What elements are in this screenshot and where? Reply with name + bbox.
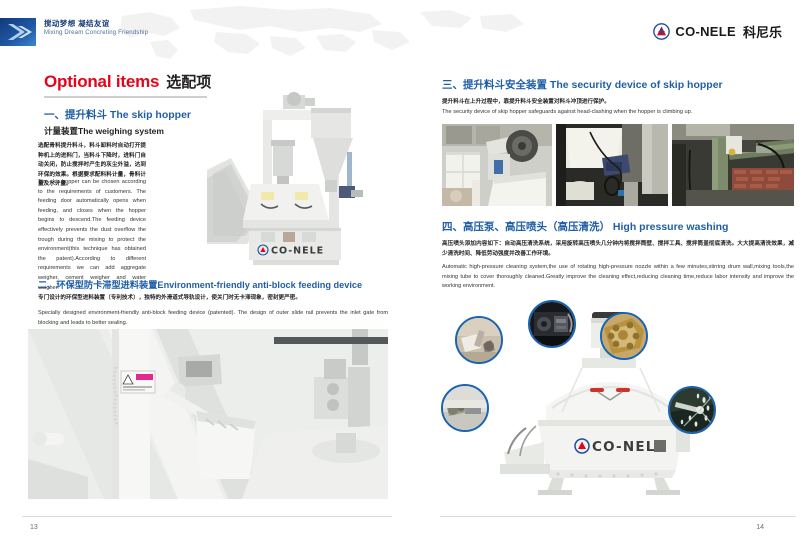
brochure-page-spread: 搅动梦想 凝结友谊 Mixing Dream Concreting Friend… bbox=[0, 0, 800, 543]
section-4-body-english: Automatic high-pressure cleaning system,… bbox=[442, 263, 794, 292]
skip-hopper-planetary-mixer-photo: CO-NELE bbox=[207, 92, 392, 272]
footer-rule-left bbox=[22, 516, 392, 517]
page-number-left: 13 bbox=[30, 524, 38, 531]
brand-name-chinese: 科尼乐 bbox=[743, 22, 782, 41]
brand-logo: CO-NELE 科尼乐 bbox=[653, 22, 782, 41]
title-underline bbox=[44, 96, 212, 98]
footer-rule-right bbox=[440, 516, 796, 517]
tagline-english: Mixing Dream Concreting Friendship bbox=[44, 30, 148, 36]
section-2-heading: 二、环保型防卡滞型进料装置Environment-friendly anti-b… bbox=[38, 277, 362, 291]
brand-name-text: CO-NELE bbox=[675, 24, 736, 39]
section-3-heading: 三、提升料斗安全装置 The security device of skip h… bbox=[442, 77, 723, 92]
spray-nozzle-closeup-photo bbox=[455, 316, 503, 364]
skip-hopper-safety-rail-photo bbox=[672, 124, 794, 206]
left-page-column: Optional items选配项 一、提升料斗 The skip hopper… bbox=[22, 66, 392, 496]
world-map-watermark-icon bbox=[120, 2, 680, 60]
valve-assembly-photo bbox=[441, 384, 489, 432]
page-header: 搅动梦想 凝结友谊 Mixing Dream Concreting Friend… bbox=[0, 0, 800, 62]
section-2-body-english: Specially designed environment-friendly … bbox=[38, 309, 388, 328]
co-nele-emblem-icon bbox=[653, 23, 670, 40]
page-title-chinese: 选配项 bbox=[166, 71, 211, 92]
section-3-body-english: The security device of skip hopper safeg… bbox=[442, 108, 792, 118]
page-title-english: Optional items bbox=[44, 72, 159, 92]
section-1-subheading: 计量装置The weighing system bbox=[44, 125, 164, 137]
svg-text:CO-NELE: CO-NELE bbox=[271, 246, 324, 257]
right-page-column: 三、提升料斗安全装置 The security device of skip h… bbox=[440, 66, 796, 496]
header-tagline: 搅动梦想 凝结友谊 Mixing Dream Concreting Friend… bbox=[44, 20, 148, 36]
anti-block-feeding-device-photo bbox=[28, 329, 388, 499]
skip-hopper-limit-switch-photo bbox=[556, 124, 668, 206]
high-pressure-pump-unit-photo bbox=[528, 300, 576, 348]
skip-hopper-safety-winch-photo bbox=[442, 124, 552, 206]
rotating-nozzle-head-photo bbox=[600, 312, 648, 360]
section-1-heading: 一、提升料斗 The skip hopper bbox=[44, 107, 191, 122]
section-4-heading: 四、高压泵、高压喷头（高压清洗） High pressure washing bbox=[442, 219, 728, 234]
section-2-body-chinese: 专门设计的环保型进料装置（专利技术），独特的外滑道式导轨设计，使关门时无卡滞现象… bbox=[38, 294, 388, 304]
tagline-chinese: 搅动梦想 凝结友谊 bbox=[44, 20, 148, 28]
water-jet-spraying-photo bbox=[668, 386, 716, 434]
page-number-right: 14 bbox=[756, 524, 764, 531]
blue-chevron-logo bbox=[0, 18, 36, 46]
section-3-body-chinese: 提升料斗在上升过程中，靠提升料斗安全装置对料斗冲顶进行保护。 bbox=[442, 98, 792, 108]
page-title: Optional items选配项 bbox=[44, 71, 212, 98]
section-4-body-chinese: 高压喷头添加内容如下：自动高压清洗系统，采用旋转高压喷头几分钟内将搅拌筒壁、搅拌… bbox=[442, 240, 794, 259]
